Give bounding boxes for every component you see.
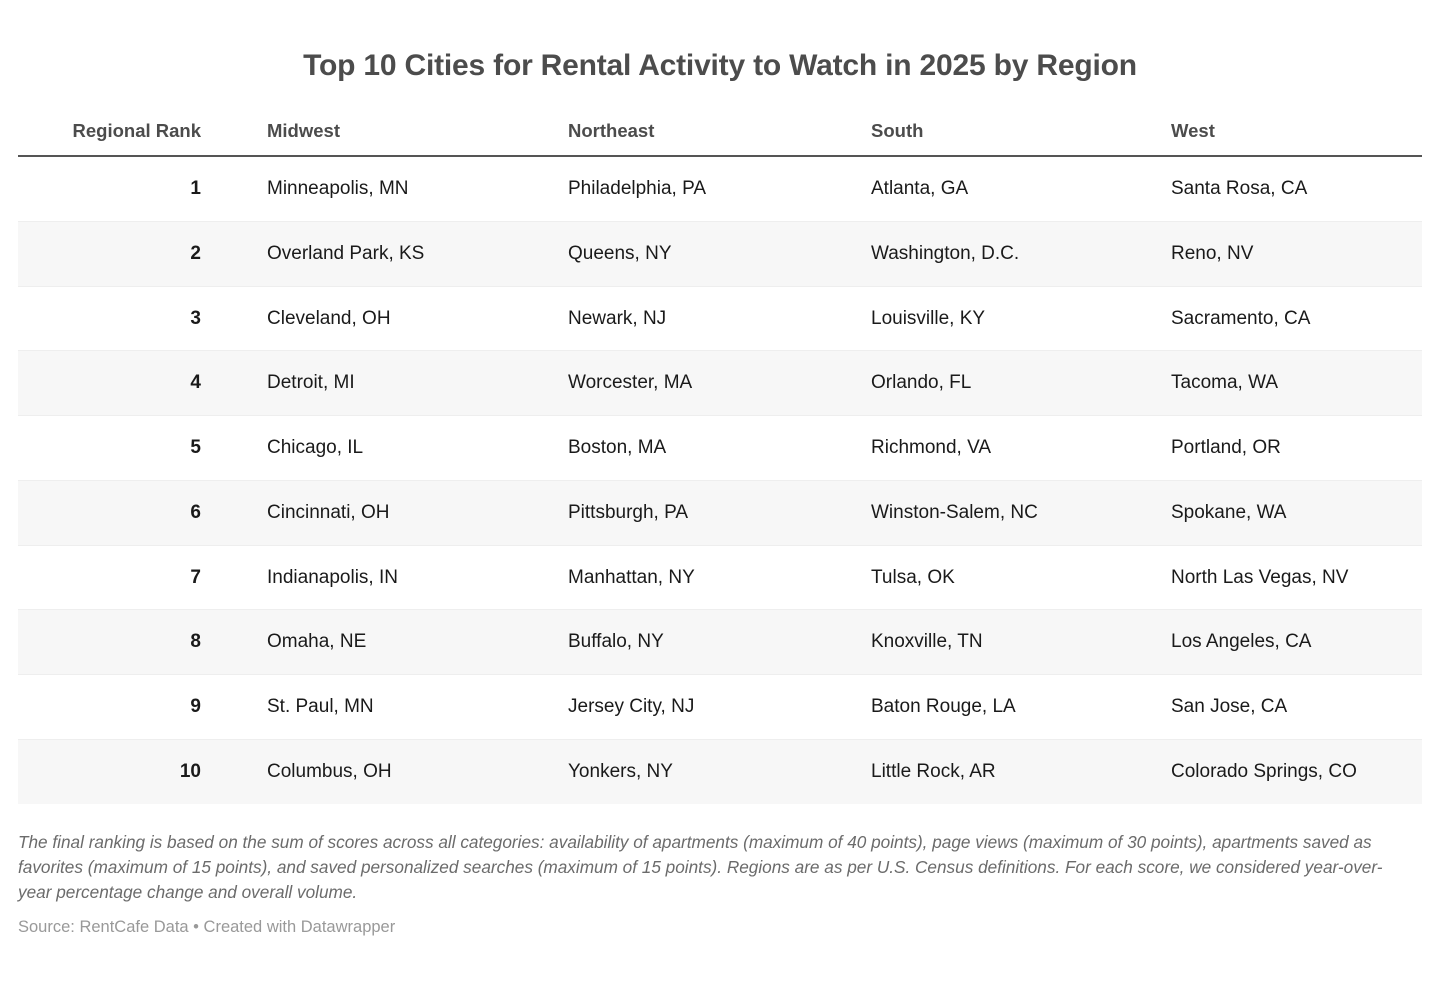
table-row: 3 Cleveland, OH Newark, NJ Louisville, K… xyxy=(18,286,1422,351)
cell-northeast: Newark, NJ xyxy=(568,286,871,351)
table-row: 9 St. Paul, MN Jersey City, NJ Baton Rou… xyxy=(18,675,1422,740)
table-row: 1 Minneapolis, MN Philadelphia, PA Atlan… xyxy=(18,156,1422,221)
cell-west: Tacoma, WA xyxy=(1171,351,1422,416)
cell-northeast: Jersey City, NJ xyxy=(568,675,871,740)
cell-midwest: Minneapolis, MN xyxy=(267,156,568,221)
methodology-note: The final ranking is based on the sum of… xyxy=(0,830,1422,905)
table-body: 1 Minneapolis, MN Philadelphia, PA Atlan… xyxy=(18,156,1422,804)
table-container: Regional Rank Midwest Northeast South We… xyxy=(0,120,1440,804)
cell-midwest: Overland Park, KS xyxy=(267,221,568,286)
cell-west: Santa Rosa, CA xyxy=(1171,156,1422,221)
cell-west: Spokane, WA xyxy=(1171,480,1422,545)
cell-west: Portland, OR xyxy=(1171,416,1422,481)
rental-activity-table: Regional Rank Midwest Northeast South We… xyxy=(18,120,1422,804)
table-row: 5 Chicago, IL Boston, MA Richmond, VA Po… xyxy=(18,416,1422,481)
cell-rank: 1 xyxy=(18,156,267,221)
cell-rank: 9 xyxy=(18,675,267,740)
table-row: 8 Omaha, NE Buffalo, NY Knoxville, TN Lo… xyxy=(18,610,1422,675)
cell-rank: 6 xyxy=(18,480,267,545)
table-row: 4 Detroit, MI Worcester, MA Orlando, FL … xyxy=(18,351,1422,416)
cell-south: Washington, D.C. xyxy=(871,221,1171,286)
cell-south: Winston-Salem, NC xyxy=(871,480,1171,545)
table-row: 7 Indianapolis, IN Manhattan, NY Tulsa, … xyxy=(18,545,1422,610)
cell-west: Sacramento, CA xyxy=(1171,286,1422,351)
cell-south: Baton Rouge, LA xyxy=(871,675,1171,740)
cell-west: Colorado Springs, CO xyxy=(1171,739,1422,803)
cell-rank: 7 xyxy=(18,545,267,610)
cell-northeast: Philadelphia, PA xyxy=(568,156,871,221)
cell-west: North Las Vegas, NV xyxy=(1171,545,1422,610)
cell-midwest: Columbus, OH xyxy=(267,739,568,803)
cell-rank: 8 xyxy=(18,610,267,675)
column-header-regional-rank[interactable]: Regional Rank xyxy=(18,120,267,156)
cell-northeast: Yonkers, NY xyxy=(568,739,871,803)
cell-northeast: Manhattan, NY xyxy=(568,545,871,610)
cell-midwest: St. Paul, MN xyxy=(267,675,568,740)
cell-rank: 4 xyxy=(18,351,267,416)
table-row: 2 Overland Park, KS Queens, NY Washingto… xyxy=(18,221,1422,286)
cell-northeast: Pittsburgh, PA xyxy=(568,480,871,545)
cell-midwest: Chicago, IL xyxy=(267,416,568,481)
column-header-west[interactable]: West xyxy=(1171,120,1422,156)
table-row: 6 Cincinnati, OH Pittsburgh, PA Winston-… xyxy=(18,480,1422,545)
column-header-south[interactable]: South xyxy=(871,120,1171,156)
cell-south: Knoxville, TN xyxy=(871,610,1171,675)
table-header-row: Regional Rank Midwest Northeast South We… xyxy=(18,120,1422,156)
column-header-northeast[interactable]: Northeast xyxy=(568,120,871,156)
cell-northeast: Queens, NY xyxy=(568,221,871,286)
cell-south: Little Rock, AR xyxy=(871,739,1171,803)
table-header: Regional Rank Midwest Northeast South We… xyxy=(18,120,1422,156)
cell-northeast: Buffalo, NY xyxy=(568,610,871,675)
cell-midwest: Omaha, NE xyxy=(267,610,568,675)
cell-rank: 5 xyxy=(18,416,267,481)
cell-south: Tulsa, OK xyxy=(871,545,1171,610)
page-title: Top 10 Cities for Rental Activity to Wat… xyxy=(0,0,1440,84)
chart-page: Top 10 Cities for Rental Activity to Wat… xyxy=(0,0,1440,1008)
cell-midwest: Detroit, MI xyxy=(267,351,568,416)
cell-midwest: Indianapolis, IN xyxy=(267,545,568,610)
column-header-midwest[interactable]: Midwest xyxy=(267,120,568,156)
cell-midwest: Cleveland, OH xyxy=(267,286,568,351)
cell-south: Louisville, KY xyxy=(871,286,1171,351)
cell-south: Orlando, FL xyxy=(871,351,1171,416)
cell-west: San Jose, CA xyxy=(1171,675,1422,740)
cell-west: Reno, NV xyxy=(1171,221,1422,286)
cell-rank: 10 xyxy=(18,739,267,803)
cell-northeast: Boston, MA xyxy=(568,416,871,481)
table-row: 10 Columbus, OH Yonkers, NY Little Rock,… xyxy=(18,739,1422,803)
cell-south: Richmond, VA xyxy=(871,416,1171,481)
source-credit: Source: RentCafe Data • Created with Dat… xyxy=(0,917,1440,938)
cell-south: Atlanta, GA xyxy=(871,156,1171,221)
cell-west: Los Angeles, CA xyxy=(1171,610,1422,675)
cell-rank: 2 xyxy=(18,221,267,286)
cell-northeast: Worcester, MA xyxy=(568,351,871,416)
cell-rank: 3 xyxy=(18,286,267,351)
cell-midwest: Cincinnati, OH xyxy=(267,480,568,545)
